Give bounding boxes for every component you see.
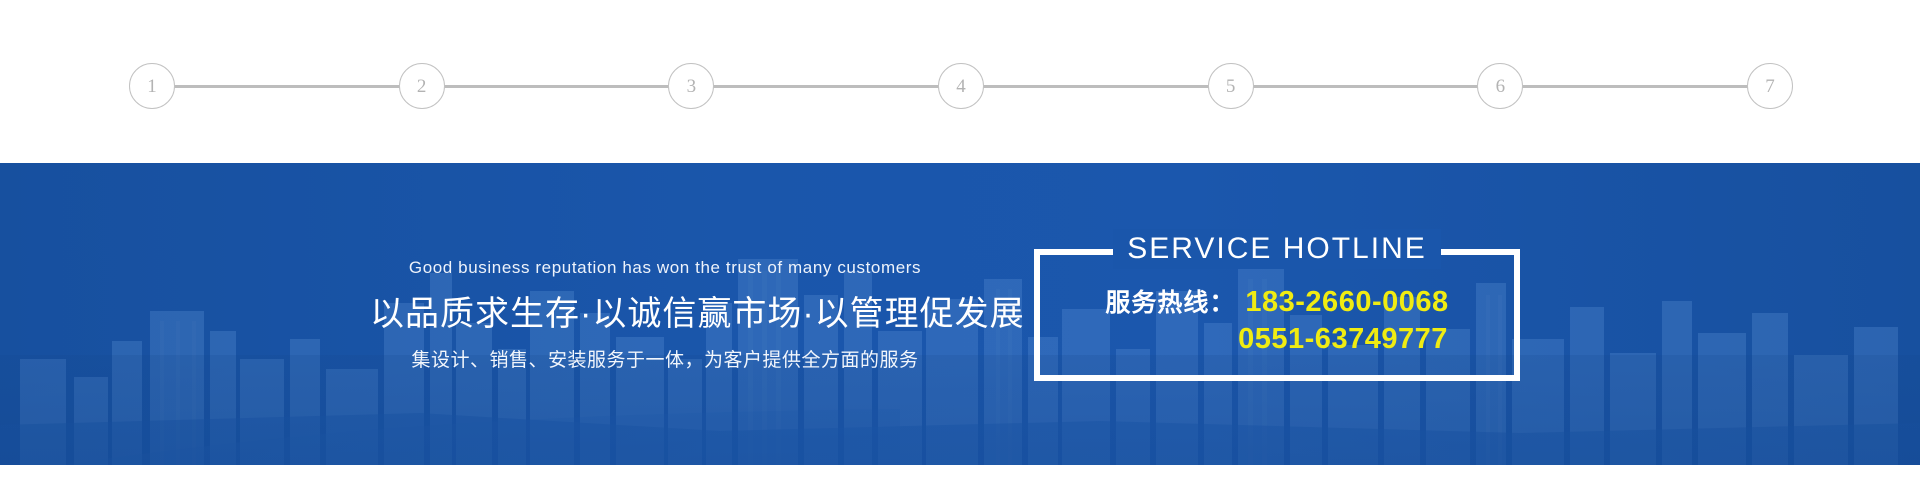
hotline-row-secondary: 0551-63749777	[1106, 323, 1448, 356]
step-node-1[interactable]: 1	[129, 63, 175, 109]
hotline-title-text: SERVICE HOTLINE	[1113, 229, 1441, 269]
banner-section: Good business reputation has won the tru…	[0, 163, 1920, 465]
step-progress-bar: 1 2 3 4 5 6 7	[0, 0, 1920, 163]
step-node-6[interactable]: 6	[1477, 63, 1523, 109]
hotline-row-primary: 服务热线： 183-2660-0068	[1105, 283, 1448, 319]
hotline-numbers: 服务热线： 183-2660-0068 0551-63749777	[1034, 283, 1520, 356]
hotline-label: 服务热线：	[1105, 283, 1235, 319]
hotline-title: SERVICE HOTLINE	[1034, 229, 1520, 269]
step-node-label: 4	[956, 77, 966, 96]
service-hotline-box: SERVICE HOTLINE 服务热线： 183-2660-0068 0551…	[1034, 249, 1520, 381]
step-node-label: 7	[1765, 77, 1775, 96]
slogan-chinese-sub: 集设计、销售、安装服务于一体，为客户提供全方面的服务	[370, 350, 960, 373]
slogan-english: Good business reputation has won the tru…	[370, 259, 960, 278]
step-node-3[interactable]: 3	[668, 63, 714, 109]
page-root: 1 2 3 4 5 6 7	[0, 0, 1920, 500]
step-node-label: 2	[417, 77, 427, 96]
step-node-7[interactable]: 7	[1747, 63, 1793, 109]
step-node-label: 1	[147, 77, 157, 96]
slogan-block: Good business reputation has won the tru…	[370, 259, 960, 373]
step-node-label: 5	[1226, 77, 1236, 96]
step-node-label: 3	[687, 77, 697, 96]
step-node-2[interactable]: 2	[399, 63, 445, 109]
step-node-4[interactable]: 4	[938, 63, 984, 109]
slogan-chinese-main: 以品质求生存·以诚信赢市场·以管理促发展	[370, 295, 960, 334]
step-node-label: 6	[1496, 77, 1506, 96]
hotline-phone-primary[interactable]: 183-2660-0068	[1245, 286, 1448, 319]
banner-foreground-road	[0, 355, 1920, 465]
hotline-phone-secondary[interactable]: 0551-63749777	[1238, 323, 1448, 356]
step-node-5[interactable]: 5	[1208, 63, 1254, 109]
